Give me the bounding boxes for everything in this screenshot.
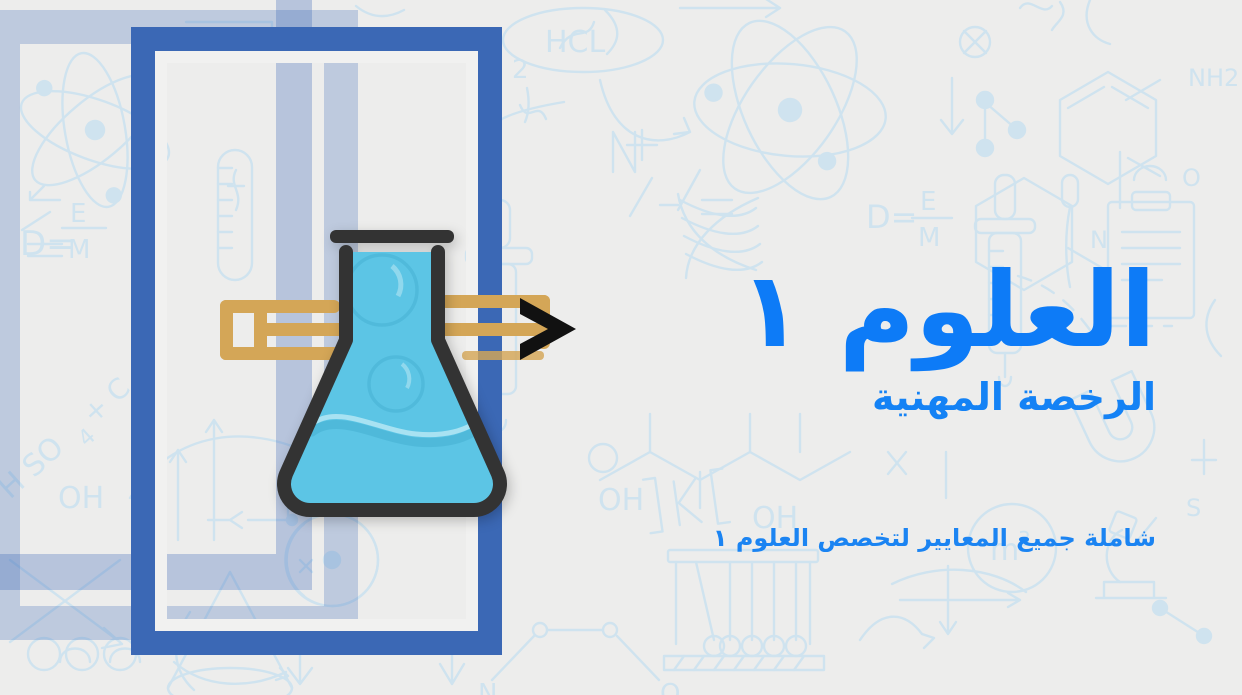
svg-text:O: O — [660, 679, 680, 695]
svg-text:S: S — [1186, 494, 1201, 522]
svg-text:D=: D= — [866, 198, 917, 236]
tagline-text: شاملة جميع المعايير لتخصص العلوم ١ — [713, 524, 1156, 552]
page-title: العلوم ١ — [596, 258, 1156, 362]
svg-text:2: 2 — [512, 55, 529, 85]
title-group: العلوم ١ الرخصة المهنية — [596, 258, 1156, 416]
svg-text:NH2: NH2 — [1188, 64, 1239, 92]
svg-text:N: N — [478, 679, 497, 695]
svg-text:O: O — [1182, 164, 1201, 192]
svg-text:OH: OH — [598, 483, 644, 518]
svg-text:E: E — [920, 187, 936, 217]
erlenmeyer-flask-icon — [268, 222, 516, 522]
play-chevron-icon — [514, 296, 580, 362]
page-subtitle: الرخصة المهنية — [596, 378, 1156, 416]
svg-text:HCL: HCL — [545, 25, 606, 60]
slide-canvas: D= E M — [0, 0, 1242, 695]
